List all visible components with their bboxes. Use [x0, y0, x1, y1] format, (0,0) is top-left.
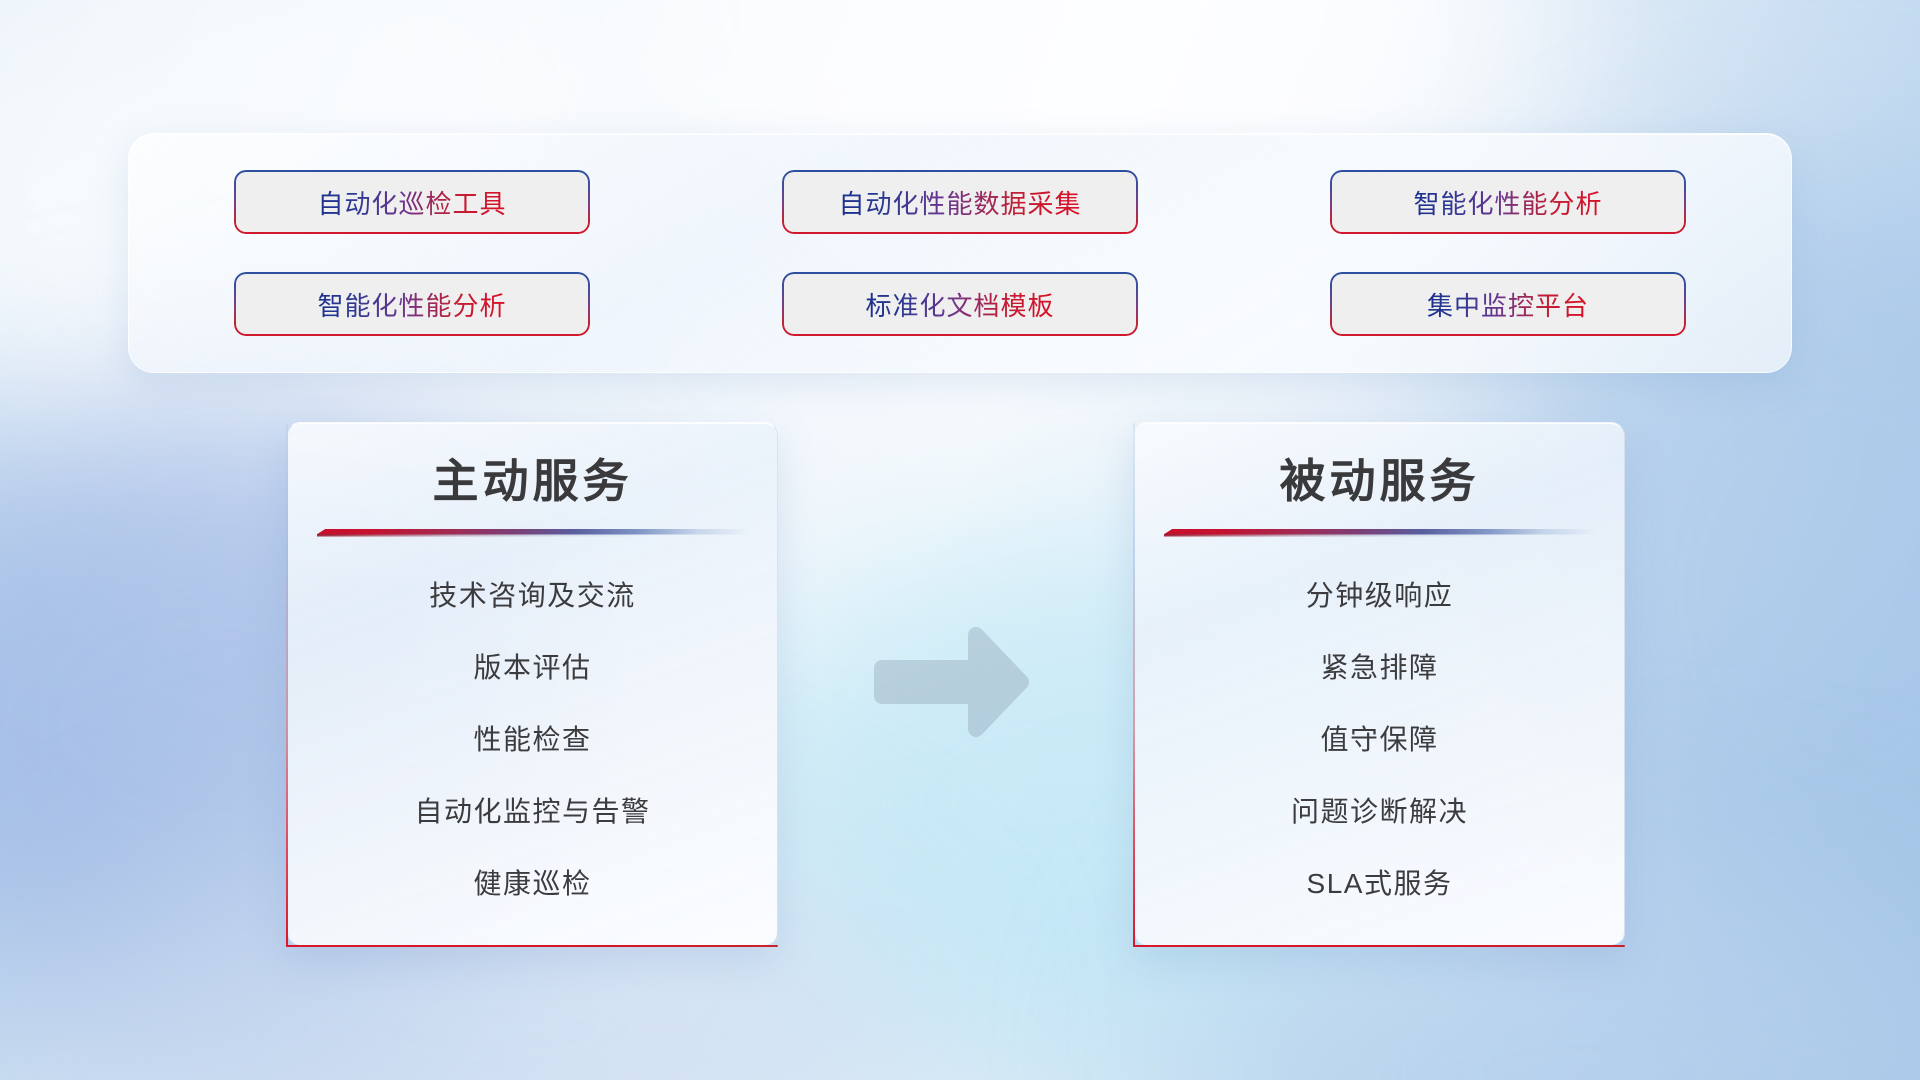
- list-item: 问题诊断解决: [1135, 798, 1624, 826]
- tag-label: 智能化性能分析: [317, 286, 506, 323]
- tag-central-monitor-platform[interactable]: 集中监控平台: [1330, 272, 1686, 336]
- card-divider: [317, 529, 749, 538]
- tag-label: 智能化性能分析: [1413, 184, 1602, 221]
- service-card-active[interactable]: 主动服务 技术咨询及交流 版本评估 性能检查 自动化监控与告警 健康巡检: [286, 422, 778, 947]
- list-item: 版本评估: [288, 654, 777, 682]
- list-item: 值守保障: [1135, 726, 1624, 754]
- tag-label: 自动化巡检工具: [317, 184, 506, 221]
- capability-tag-grid: 自动化巡检工具 自动化性能数据采集 智能化性能分析 智能化性能分析 标准化文档模…: [234, 170, 1686, 336]
- service-card-passive[interactable]: 被动服务 分钟级响应 紧急排障 值守保障 问题诊断解决 SLA式服务: [1133, 422, 1625, 947]
- list-item: 技术咨询及交流: [288, 582, 777, 610]
- tag-auto-inspection-tool[interactable]: 自动化巡检工具: [234, 170, 590, 234]
- list-item: SLA式服务: [1135, 870, 1624, 898]
- card-title-passive: 被动服务: [1135, 423, 1624, 511]
- tag-standard-doc-template[interactable]: 标准化文档模板: [782, 272, 1138, 336]
- slide-canvas: 自动化巡检工具 自动化性能数据采集 智能化性能分析 智能化性能分析 标准化文档模…: [0, 0, 1920, 1080]
- tag-label: 标准化文档模板: [865, 286, 1054, 323]
- list-item: 分钟级响应: [1135, 582, 1624, 610]
- tag-auto-perf-collection[interactable]: 自动化性能数据采集: [782, 170, 1138, 234]
- tag-label: 自动化性能数据采集: [838, 184, 1081, 221]
- card-title-active: 主动服务: [288, 423, 777, 511]
- tag-intelligent-perf-analysis-bottom[interactable]: 智能化性能分析: [234, 272, 590, 336]
- list-item: 紧急排障: [1135, 654, 1624, 682]
- list-item: 健康巡检: [288, 870, 777, 898]
- tag-label: 集中监控平台: [1427, 286, 1589, 323]
- card-divider: [1164, 529, 1596, 538]
- arrow-right-icon: [874, 627, 1034, 737]
- capability-tag-panel: 自动化巡检工具 自动化性能数据采集 智能化性能分析 智能化性能分析 标准化文档模…: [128, 133, 1792, 373]
- tag-intelligent-perf-analysis-top[interactable]: 智能化性能分析: [1330, 170, 1686, 234]
- list-item: 自动化监控与告警: [288, 798, 777, 826]
- service-list-passive: 分钟级响应 紧急排障 值守保障 问题诊断解决 SLA式服务: [1135, 538, 1624, 898]
- service-list-active: 技术咨询及交流 版本评估 性能检查 自动化监控与告警 健康巡检: [288, 538, 777, 898]
- list-item: 性能检查: [288, 726, 777, 754]
